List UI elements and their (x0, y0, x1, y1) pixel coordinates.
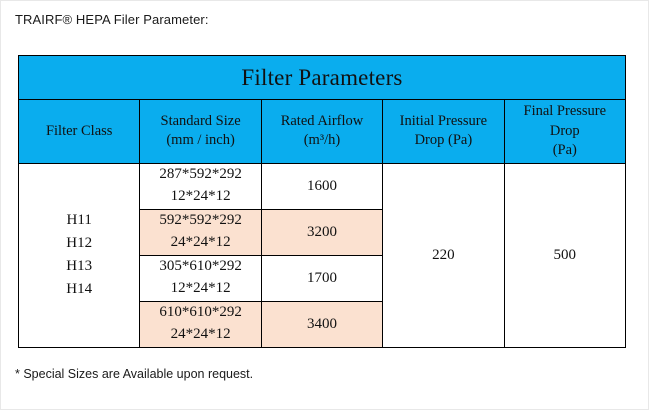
filter-parameters-table: Filter Parameters Filter Class Standard … (18, 55, 626, 348)
standard-size-mm: 305*610*292 (140, 256, 260, 278)
column-header-initial-pressure-drop: Initial Pressure Drop (Pa) (383, 100, 504, 164)
page-title: TRAIRF® HEPA Filer Parameter: (15, 12, 209, 27)
standard-size-mm: 610*610*292 (140, 302, 260, 324)
filter-parameters-table-container: Filter Parameters Filter Class Standard … (18, 55, 626, 334)
final-pressure-drop-cell: 500 (504, 163, 625, 347)
table-caption-row: Filter Parameters (19, 56, 626, 100)
standard-size-inch: 12*24*12 (140, 278, 260, 300)
standard-size-cell: 592*592*292 24*24*12 (140, 209, 261, 255)
column-header-final-pressure-drop-line1: Final Pressure Drop (524, 103, 607, 139)
rated-airflow-cell: 3200 (261, 209, 382, 255)
table-caption: Filter Parameters (19, 56, 626, 100)
column-header-standard-size: Standard Size (mm / inch) (140, 100, 261, 164)
standard-size-cell: 305*610*292 12*24*12 (140, 255, 261, 301)
column-header-initial-pressure-drop-line1: Initial Pressure (400, 113, 487, 129)
standard-size-cell: 610*610*292 24*24*12 (140, 301, 261, 347)
column-header-final-pressure-drop-line2: (Pa) (508, 141, 622, 161)
column-header-filter-class-line1: Filter Class (46, 123, 112, 139)
rated-airflow-cell: 1600 (261, 163, 382, 209)
column-header-rated-airflow-line1: Rated Airflow (m³/h) (281, 113, 364, 149)
column-header-initial-pressure-drop-line2: Drop (Pa) (386, 131, 500, 151)
rated-airflow-cell: 1700 (261, 255, 382, 301)
standard-size-mm: 592*592*292 (140, 210, 260, 232)
column-header-standard-size-line1: Standard Size (161, 113, 241, 129)
standard-size-inch: 12*24*12 (140, 186, 260, 208)
standard-size-inch: 24*24*12 (140, 324, 260, 346)
standard-size-cell: 287*592*292 12*24*12 (140, 163, 261, 209)
filter-class-h11: H11 (19, 209, 139, 232)
filter-class-h12: H12 (19, 232, 139, 255)
column-header-final-pressure-drop: Final Pressure Drop (Pa) (504, 100, 625, 164)
column-header-filter-class: Filter Class (19, 100, 140, 164)
column-header-rated-airflow: Rated Airflow (m³/h) (261, 100, 382, 164)
initial-pressure-drop-cell: 220 (383, 163, 504, 347)
table-header-row: Filter Class Standard Size (mm / inch) R… (19, 100, 626, 164)
filter-class-h14: H14 (19, 278, 139, 301)
standard-size-inch: 24*24*12 (140, 232, 260, 254)
filter-class-cell: H11 H12 H13 H14 (19, 163, 140, 347)
table-row: H11 H12 H13 H14 287*592*292 12*24*12 160… (19, 163, 626, 209)
rated-airflow-cell: 3400 (261, 301, 382, 347)
filter-class-h13: H13 (19, 255, 139, 278)
column-header-standard-size-line2: (mm / inch) (143, 131, 257, 151)
standard-size-mm: 287*592*292 (140, 164, 260, 186)
footnote: * Special Sizes are Available upon reque… (15, 367, 253, 381)
